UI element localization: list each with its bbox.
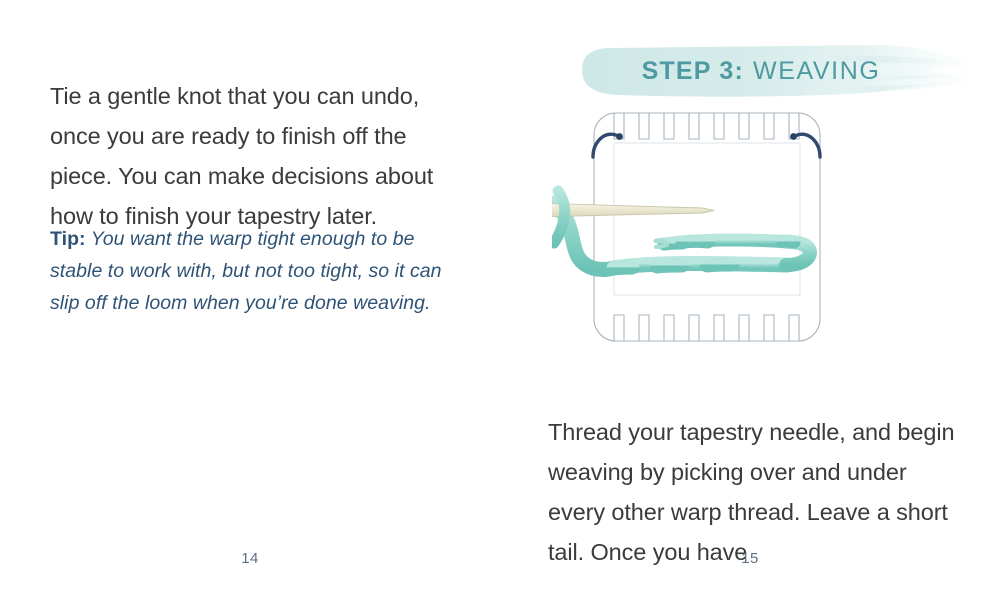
left-page: Tie a gentle knot that you can undo, onc… [0, 0, 500, 600]
right-page-body-paragraph: Thread your tapestry needle, and begin w… [548, 412, 968, 572]
tip-callout: Tip: You want the warp tight enough to b… [50, 223, 450, 319]
loom-illustration [552, 95, 962, 360]
book-page-spread: Tie a gentle knot that you can undo, onc… [0, 0, 1000, 600]
right-page: STEP 3: WEAVING [500, 0, 1000, 600]
warp-knot-left [616, 133, 623, 140]
warp-knot-right [790, 133, 797, 140]
step-banner: STEP 3: WEAVING [578, 40, 978, 102]
loom-board [594, 113, 820, 341]
page-number-right: 15 [500, 550, 1000, 567]
loom-weaving-svg [552, 95, 962, 360]
tip-label: Tip: [50, 228, 86, 250]
page-number-left: 14 [0, 550, 500, 567]
step-word-label: WEAVING [753, 57, 880, 86]
left-page-body-paragraph: Tie a gentle knot that you can undo, onc… [50, 76, 450, 236]
step-title: STEP 3: WEAVING [578, 40, 978, 102]
tip-body: You want the warp tight enough to be sta… [50, 228, 442, 314]
step-number-label: STEP 3: [642, 57, 744, 86]
